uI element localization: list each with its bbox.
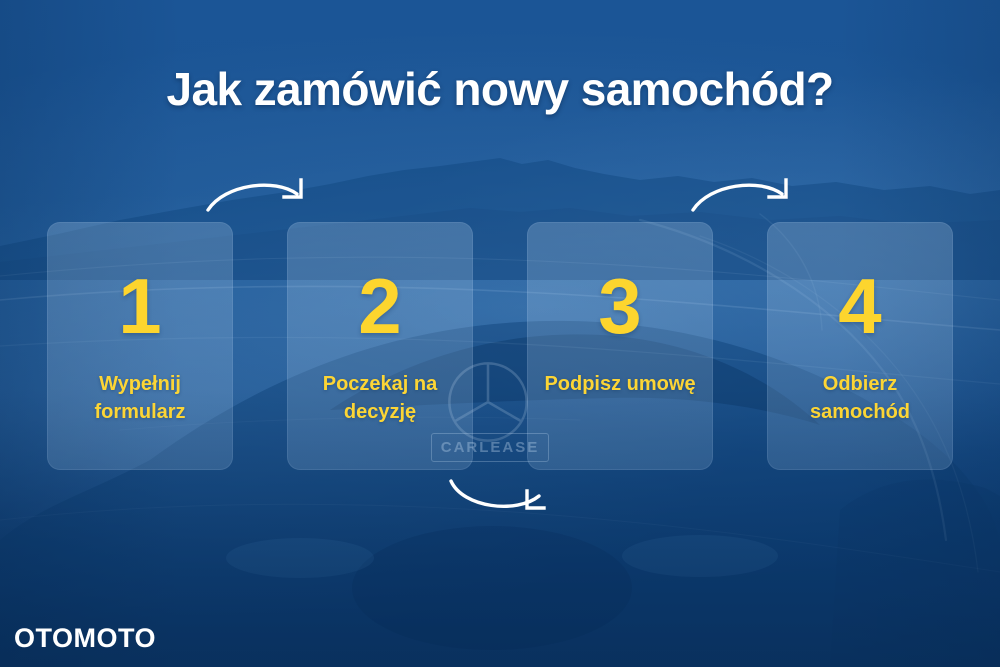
step-number: 2 (358, 267, 401, 345)
step-label: Wypełnij formularz (53, 370, 227, 427)
page-title: Jak zamówić nowy samochód? (0, 66, 1000, 112)
infographic-canvas: CARLEASE Jak zamówić nowy samochód? (0, 0, 1000, 667)
step-card-2[interactable]: 2 Poczekaj na decyzję (287, 222, 473, 470)
otomoto-logo[interactable]: OTOMOTO (14, 625, 156, 652)
step-card-4[interactable]: 4 Odbierz samochód (767, 222, 953, 470)
step-card-1[interactable]: 1 Wypełnij formularz (47, 222, 233, 470)
step-label: Podpisz umowę (533, 370, 707, 398)
arrow-step-2-to-3-icon (447, 478, 553, 514)
arrow-step-1-to-2-icon (205, 178, 311, 214)
step-number: 3 (598, 267, 641, 345)
otomoto-logo-text: OTOMOTO (14, 625, 156, 652)
steps-row: 1 Wypełnij formularz 2 Poczekaj na decyz… (47, 222, 953, 470)
step-number: 4 (838, 267, 881, 345)
step-card-3[interactable]: 3 Podpisz umowę (527, 222, 713, 470)
content-layer: Jak zamówić nowy samochód? 1 Wy (0, 0, 1000, 667)
step-number: 1 (118, 267, 161, 345)
step-label: Poczekaj na decyzję (293, 370, 467, 427)
step-label: Odbierz samochód (773, 370, 947, 427)
arrow-step-3-to-4-icon (690, 178, 796, 214)
